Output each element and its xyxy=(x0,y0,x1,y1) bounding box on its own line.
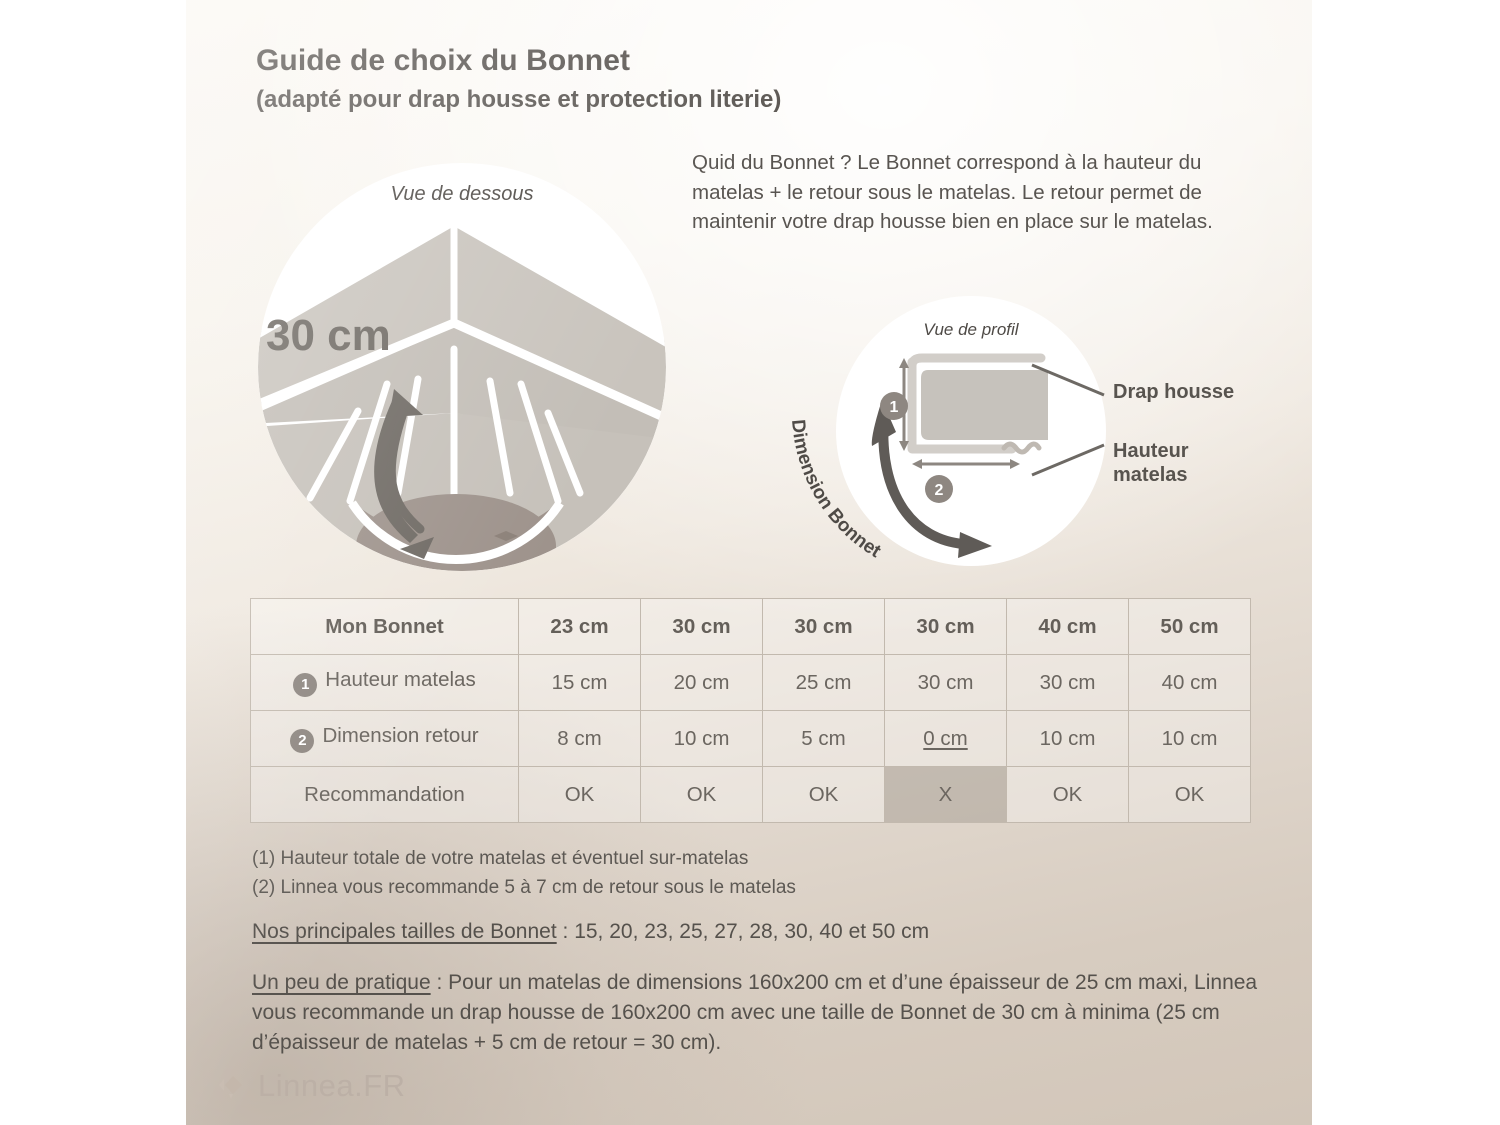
badge-2-icon: 2 xyxy=(290,729,314,753)
sizes-value: : 15, 20, 23, 25, 27, 28, 30, 40 et 50 c… xyxy=(557,920,929,943)
table-cell: 30 cm xyxy=(1007,655,1129,711)
table-cell: 30 cm xyxy=(763,599,885,655)
table-cell: 25 cm xyxy=(763,655,885,711)
table-row: Mon Bonnet 23 cm 30 cm 30 cm 30 cm 40 cm… xyxy=(251,599,1251,655)
table-cell: 30 cm xyxy=(641,599,763,655)
callout-leader-lines xyxy=(1026,355,1126,485)
table-cell: OK xyxy=(1129,767,1251,823)
table-cell: 15 cm xyxy=(519,655,641,711)
table-cell: 0 cm xyxy=(885,711,1007,767)
callout-drap-housse: Drap housse xyxy=(1113,381,1234,405)
practice-label: Un peu de pratique xyxy=(252,971,431,994)
table-row: 2Dimension retour 8 cm 10 cm 5 cm 0 cm 1… xyxy=(251,711,1251,767)
table-cell: 10 cm xyxy=(1129,711,1251,767)
content-panel: Guide de choix du Bonnet (adapté pour dr… xyxy=(186,0,1312,1125)
bonnet-recommendation-table: Mon Bonnet 23 cm 30 cm 30 cm 30 cm 40 cm… xyxy=(250,598,1251,823)
table-row-label-2: 2Dimension retour xyxy=(251,711,519,767)
table-cell: 30 cm xyxy=(885,655,1007,711)
table-cell: 23 cm xyxy=(519,599,641,655)
table-cell-highlight: 0 cm xyxy=(923,727,967,750)
badge-1-icon: 1 xyxy=(293,673,317,697)
bottom-view-label: Vue de dessous xyxy=(258,183,666,206)
logo-wordmark: Linnea.FR xyxy=(258,1068,406,1104)
bottom-view-measure: 30 cm xyxy=(266,311,391,361)
table-row: 1Hauteur matelas 15 cm 20 cm 25 cm 30 cm… xyxy=(251,655,1251,711)
table-cell: 20 cm xyxy=(641,655,763,711)
table-cell: OK xyxy=(763,767,885,823)
table-cell: OK xyxy=(519,767,641,823)
table-cell: OK xyxy=(641,767,763,823)
footnote-1: (1) Hauteur totale de votre matelas et é… xyxy=(252,849,748,868)
table-row-label: Recommandation xyxy=(251,767,519,823)
profile-view-label: Vue de profil xyxy=(836,320,1106,340)
table-row-label-text: Hauteur matelas xyxy=(325,668,475,691)
table-cell: 10 cm xyxy=(641,711,763,767)
table-row: Recommandation OK OK OK X OK OK xyxy=(251,767,1251,823)
table-cell-rejected: X xyxy=(885,767,1007,823)
sizes-label: Nos principales tailles de Bonnet xyxy=(252,920,557,943)
table-cell: 40 cm xyxy=(1129,655,1251,711)
callout-hauteur-matelas: Hauteur matelas xyxy=(1113,440,1189,487)
svg-text:1: 1 xyxy=(890,399,899,416)
table-cell: 8 cm xyxy=(519,711,641,767)
bottom-view-illustration xyxy=(258,163,666,571)
table-cell: 5 cm xyxy=(763,711,885,767)
page-subtitle: (adapté pour drap housse et protection l… xyxy=(256,88,781,112)
table-cell: 50 cm xyxy=(1129,599,1251,655)
poster-canvas: Guide de choix du Bonnet (adapté pour dr… xyxy=(0,0,1500,1125)
practice-block: Un peu de pratique : Pour un matelas de … xyxy=(252,968,1262,1057)
table-row-label-text: Dimension retour xyxy=(322,724,478,747)
page-title: Guide de choix du Bonnet xyxy=(256,46,630,76)
svg-text:2: 2 xyxy=(935,482,944,499)
table-cell: 30 cm xyxy=(885,599,1007,655)
table-cell: 40 cm xyxy=(1007,599,1129,655)
intro-paragraph: Quid du Bonnet ? Le Bonnet correspond à … xyxy=(692,148,1272,237)
table-cell: 10 cm xyxy=(1007,711,1129,767)
sizes-line: Nos principales tailles de Bonnet : 15, … xyxy=(252,920,929,944)
footnote-2: (2) Linnea vous recommande 5 à 7 cm de r… xyxy=(252,878,796,897)
brand-logo[interactable]: Linnea.FR xyxy=(212,1068,406,1104)
table-cell: OK xyxy=(1007,767,1129,823)
diagram-bottom-view: Vue de dessous 30 cm xyxy=(258,163,666,571)
table-row-label-1: 1Hauteur matelas xyxy=(251,655,519,711)
callout-hauteur-line2: matelas xyxy=(1113,464,1189,488)
callout-hauteur-line1: Hauteur xyxy=(1113,440,1189,464)
table-row-label: Mon Bonnet xyxy=(251,599,519,655)
linnea-diamond-icon xyxy=(212,1071,246,1101)
